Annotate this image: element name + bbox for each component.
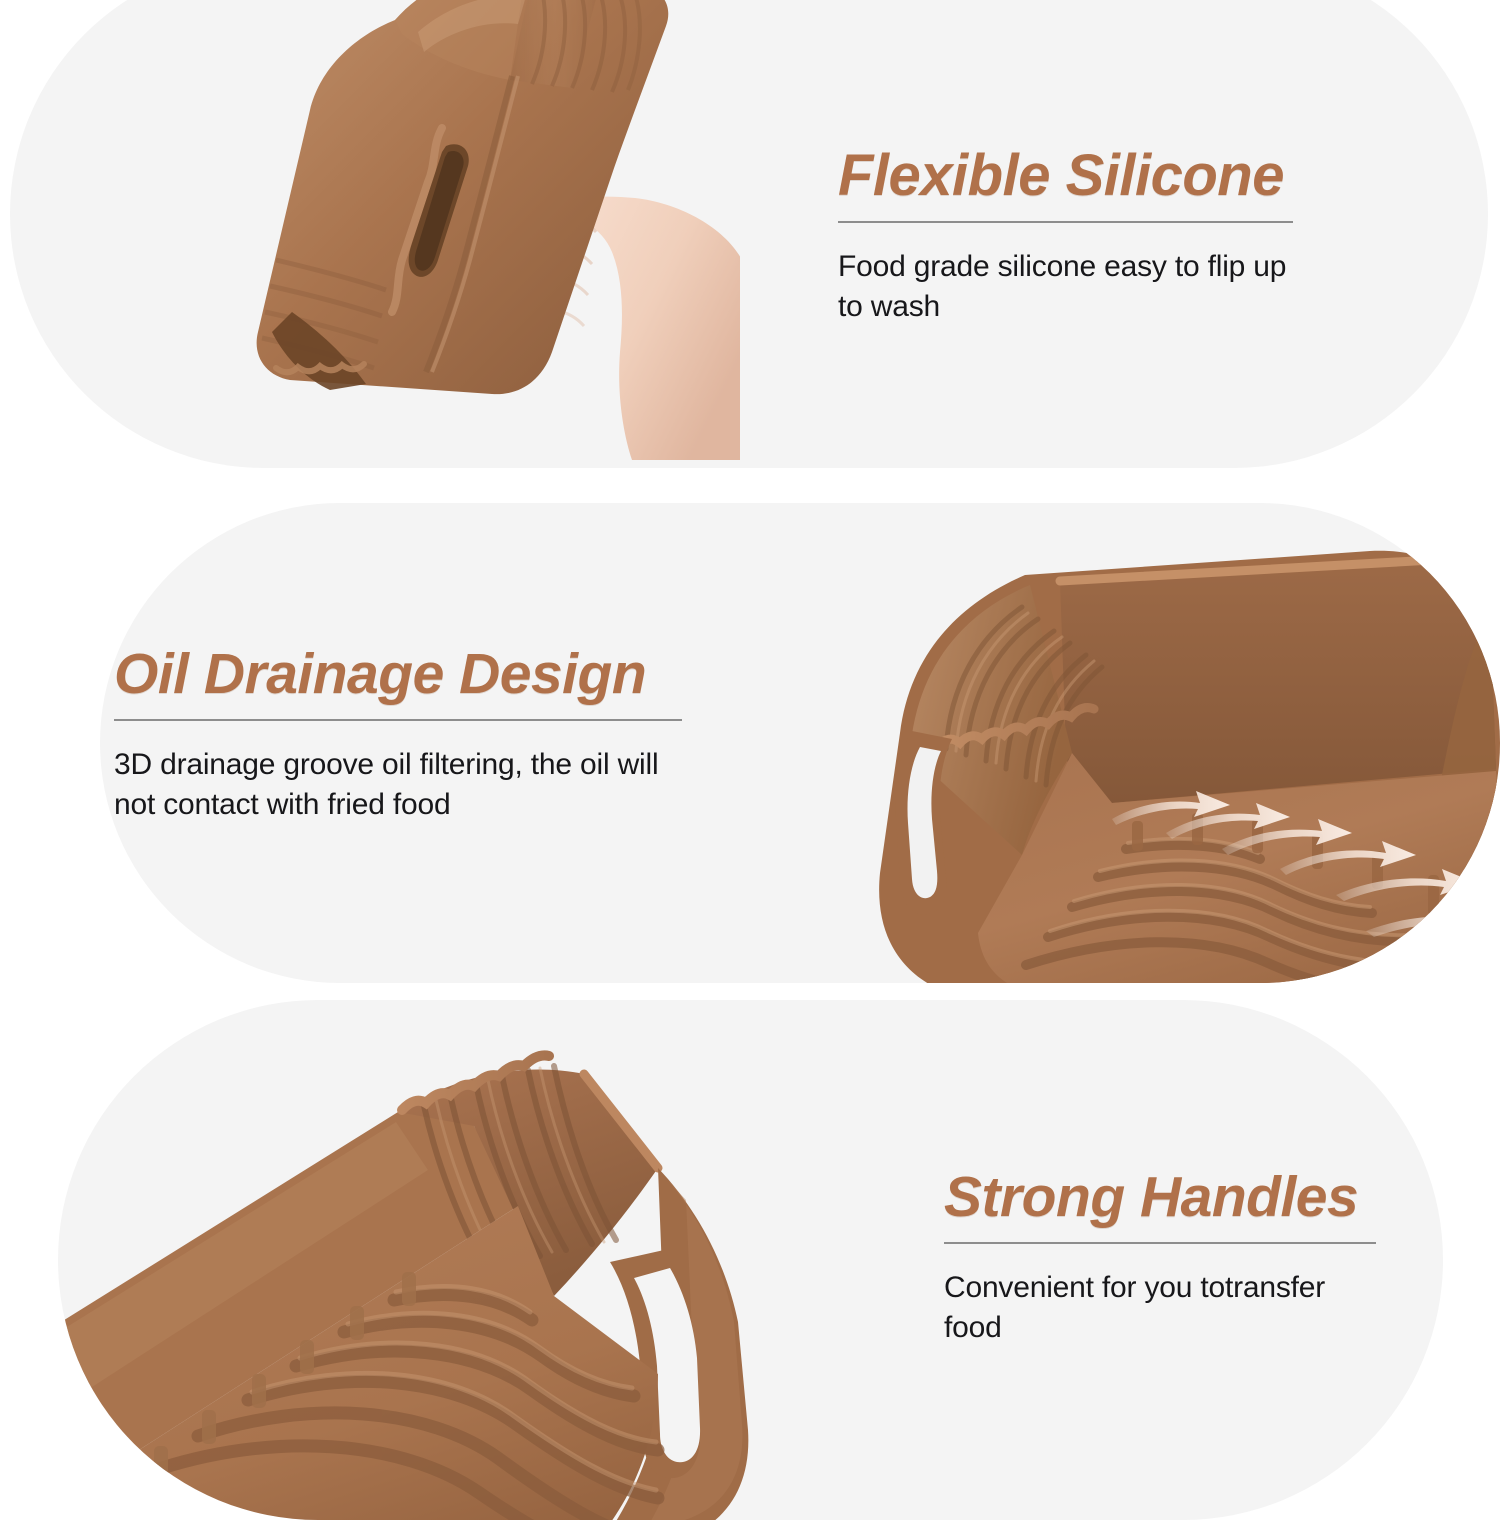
feature-text-oil-drainage-design: Oil Drainage Design 3D drainage groove o… [114,645,694,825]
feature-heading: Strong Handles [944,1168,1384,1228]
feature-heading: Flexible Silicone [838,146,1300,207]
handle-cutout [610,1250,700,1478]
folded-liner-svg [180,0,740,460]
liner-handle-svg [58,1000,838,1520]
groove-ridges [1132,813,1471,947]
drainage-groove-highlights [252,1286,656,1490]
liner-interior-svg [760,503,1500,983]
heading-divider [944,1242,1376,1244]
drainage-grooves [150,1294,658,1520]
feature-heading: Oil Drainage Design [114,645,694,705]
illustration-hand-squeezing-folded-liner [180,0,740,468]
lower-ribbed-fold [262,260,386,368]
handle-cutout [896,731,952,915]
feature-panel-flexible-silicone: Flexible Silicone Food grade silicone ea… [10,0,1488,468]
illustration-liner-interior-with-flow-arrows [760,503,1500,983]
feature-body: 3D drainage groove oil filtering, the oi… [114,745,680,825]
hand [520,197,740,460]
ribbed-wall [946,607,1102,785]
folded-silicone-body [257,0,669,394]
heading-divider [838,221,1293,223]
heading-divider [114,719,682,721]
ribbed-wall-section [510,0,640,92]
feature-body: Food grade silicone easy to flip up to w… [838,247,1298,327]
feature-text-flexible-silicone: Flexible Silicone Food grade silicone ea… [838,146,1300,327]
illustration-liner-with-side-handle [58,1000,778,1520]
feature-body: Convenient for you totransfer food [944,1268,1384,1348]
drainage-grooves [1026,845,1454,983]
handle-slot [409,144,469,277]
oil-flow-arrows [1112,791,1500,983]
feature-text-strong-handles: Strong Handles Convenient for you totran… [944,1168,1384,1348]
ribbed-wall-highlights [956,613,1094,781]
drainage-groove-highlights [1050,839,1436,963]
ribbed-wall [424,1066,616,1268]
groove-ridges [154,1272,416,1480]
feature-panel-oil-drainage-design: Oil Drainage Design 3D drainage groove o… [100,503,1500,983]
feature-panel-strong-handles: Strong Handles Convenient for you totran… [58,1000,1443,1520]
